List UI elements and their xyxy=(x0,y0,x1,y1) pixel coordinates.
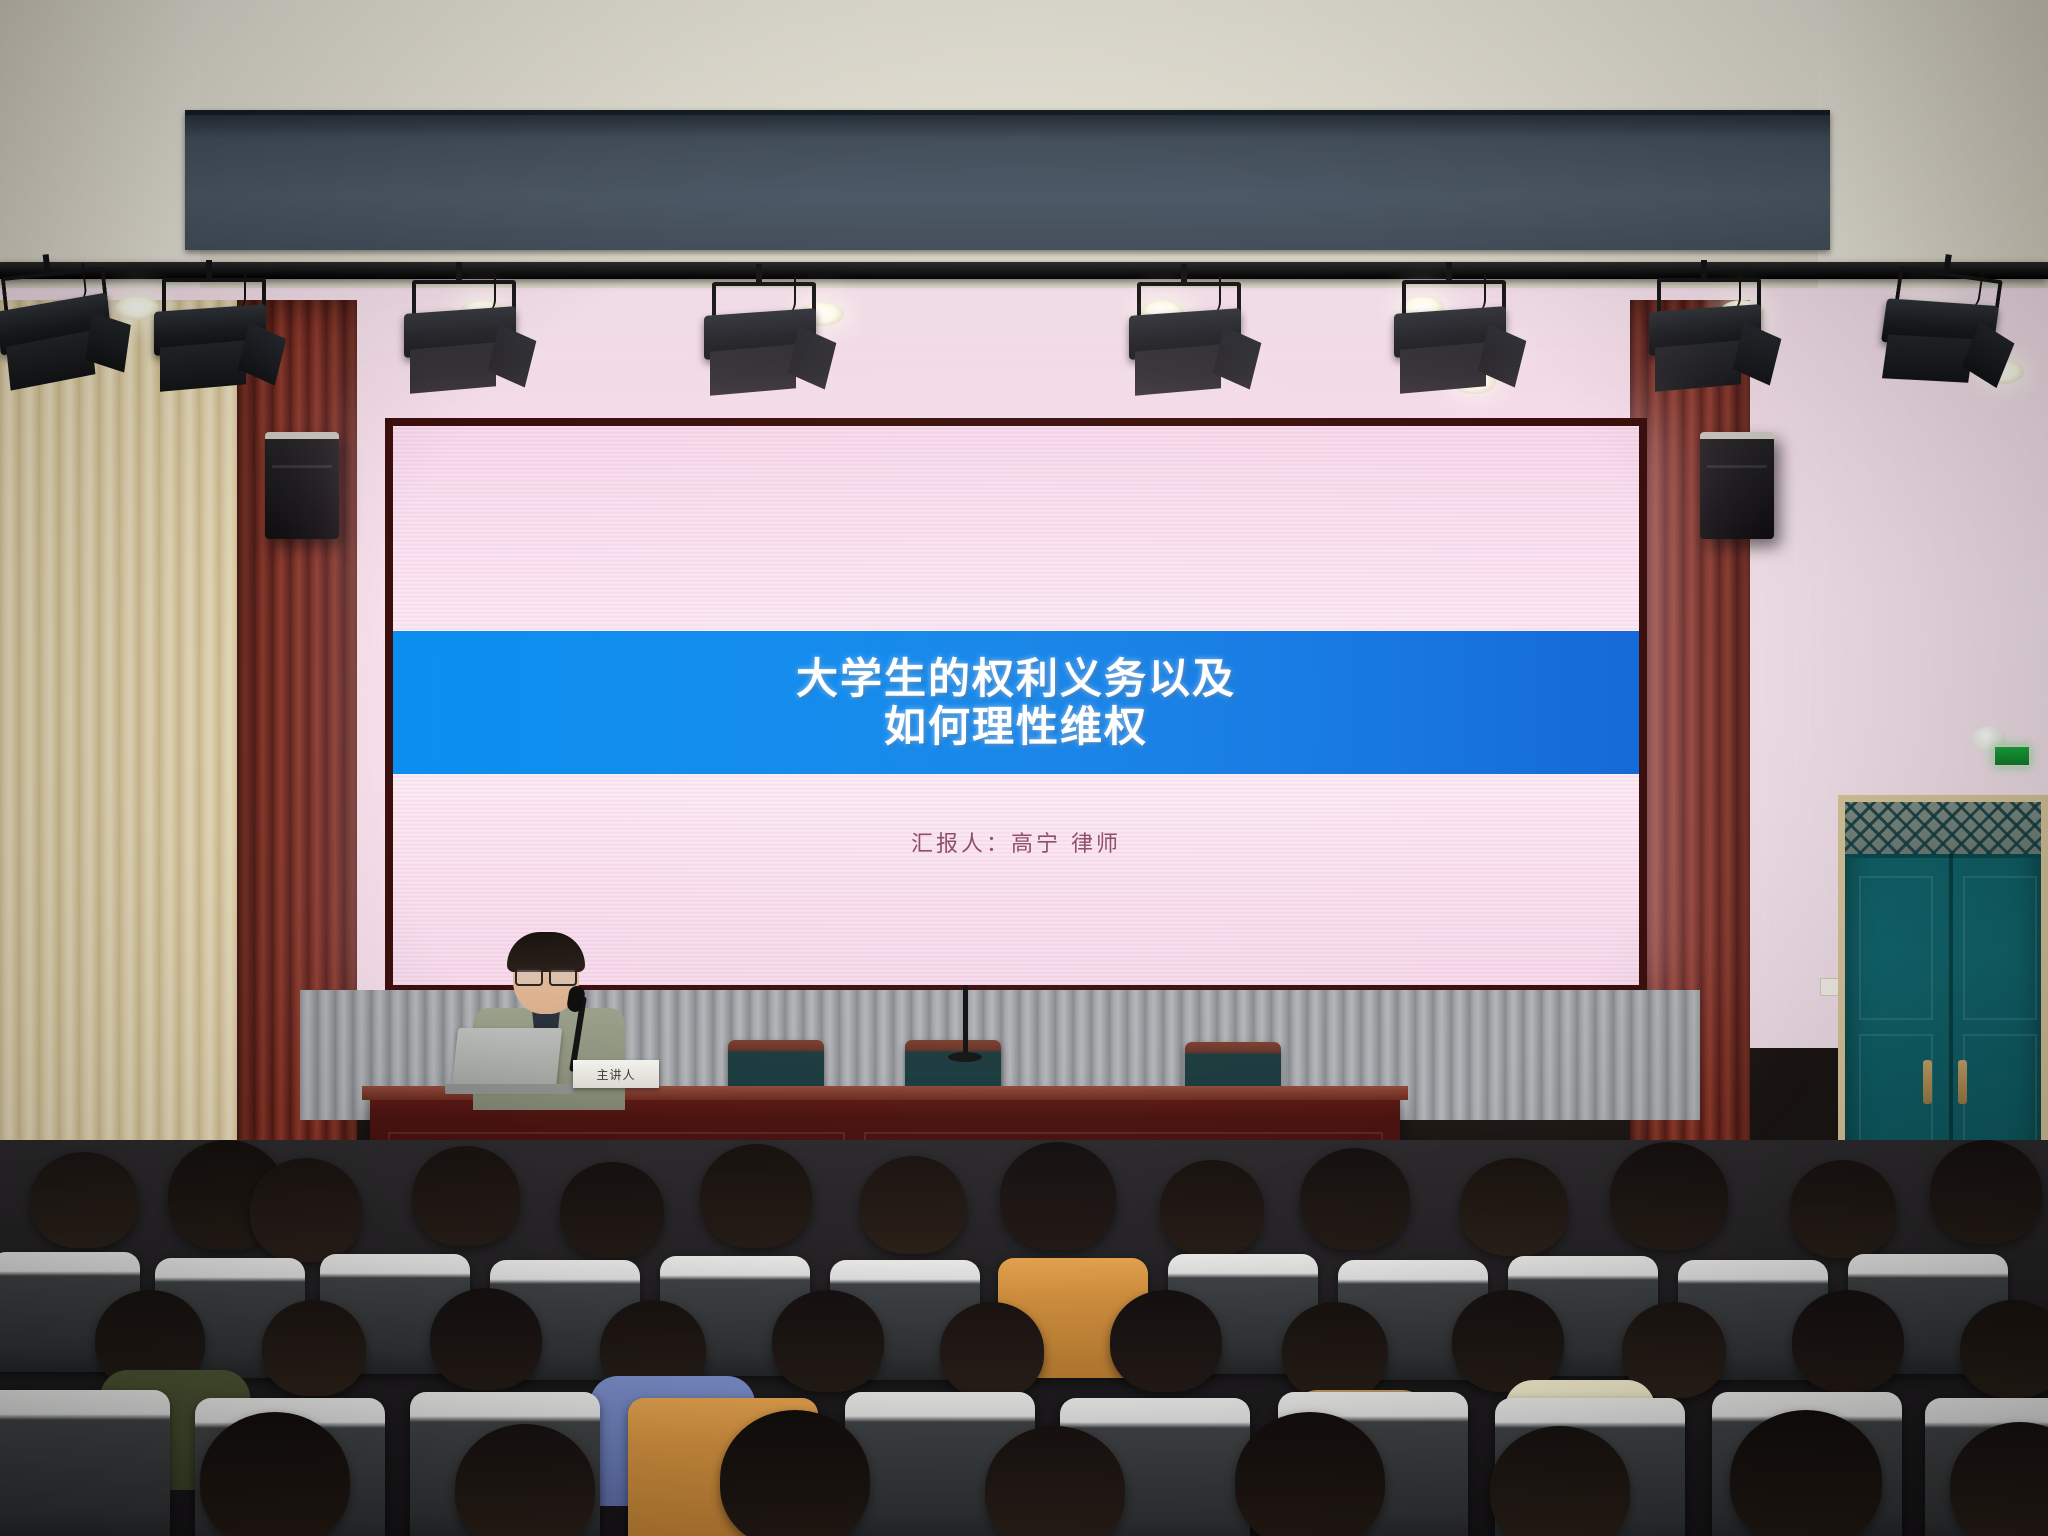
stage-light xyxy=(0,266,119,383)
door-handle[interactable] xyxy=(1958,1060,1967,1104)
audience-head xyxy=(1930,1140,2042,1244)
audience-head xyxy=(262,1300,366,1396)
audience-head xyxy=(1160,1160,1264,1256)
presenter-laptop-base xyxy=(445,1084,573,1094)
slide-title-band: 大学生的权利义务以及 如何理性维权 xyxy=(393,631,1639,774)
slide-presenter-line: 汇报人：高宁 律师 xyxy=(393,826,1639,858)
audience-head xyxy=(720,1410,870,1536)
slide-title-line-1: 大学生的权利义务以及 xyxy=(796,655,1236,702)
audience-head xyxy=(430,1288,542,1390)
wall-speaker-left xyxy=(265,432,339,539)
presenter-hair xyxy=(507,932,585,972)
stage-light xyxy=(150,278,270,383)
audience-head xyxy=(772,1290,884,1392)
stage-light xyxy=(1645,278,1765,383)
wall-speaker-right xyxy=(1700,432,1774,539)
audience-head xyxy=(560,1162,664,1258)
audience-head xyxy=(1730,1410,1882,1536)
ceiling-acoustic-band xyxy=(185,110,1830,250)
audience-head xyxy=(1282,1302,1388,1400)
audience-head xyxy=(1300,1148,1410,1250)
slide-title-line-2: 如何理性维权 xyxy=(796,703,1236,750)
exit-sign xyxy=(1993,745,2031,767)
audience-head xyxy=(1790,1160,1896,1258)
audience-head xyxy=(1452,1290,1564,1392)
audience-head xyxy=(940,1302,1044,1398)
door-transom-lattice xyxy=(1845,802,2041,858)
led-screen: 大学生的权利义务以及 如何理性维权 汇报人：高宁 律师 xyxy=(393,426,1639,985)
audience-head xyxy=(700,1144,812,1248)
table-microphone-stand xyxy=(963,985,968,1057)
presidium-chair xyxy=(905,1040,1001,1092)
audience-head xyxy=(860,1156,966,1254)
door-panel xyxy=(1963,876,2037,1020)
slide-title: 大学生的权利义务以及 如何理性维权 xyxy=(796,655,1236,749)
stage-light xyxy=(1873,264,2006,385)
audience-seat xyxy=(0,1390,170,1536)
presidium-chair xyxy=(728,1040,824,1092)
presenter-figure: 主讲人 xyxy=(455,930,645,1110)
auditorium-photo: 大学生的权利义务以及 如何理性维权 汇报人：高宁 律师 主讲人 xyxy=(0,0,2048,1536)
audience-head xyxy=(1110,1290,1222,1392)
ceiling-right-shade xyxy=(1818,0,2048,300)
audience-head xyxy=(1235,1412,1385,1536)
audience-head xyxy=(1460,1158,1568,1256)
presenter-glasses-icon xyxy=(515,968,577,982)
audience-head xyxy=(1000,1142,1116,1250)
audience-head xyxy=(1792,1290,1904,1392)
audience-area xyxy=(0,1140,2048,1536)
audience-head xyxy=(250,1158,362,1262)
audience-head xyxy=(30,1152,138,1248)
stage-light xyxy=(700,282,820,387)
presenter-name-card: 主讲人 xyxy=(573,1060,659,1088)
door-handle[interactable] xyxy=(1923,1060,1932,1104)
door-panel xyxy=(1859,876,1933,1020)
stage-light xyxy=(400,280,520,385)
audience-head xyxy=(1610,1142,1728,1250)
ceiling-left-shade xyxy=(0,0,200,300)
table-microphone-base xyxy=(948,1052,982,1062)
stage-light xyxy=(1390,280,1510,385)
stage-light xyxy=(1125,282,1245,387)
led-screen-frame: 大学生的权利义务以及 如何理性维权 汇报人：高宁 律师 xyxy=(385,418,1647,993)
presenter-laptop xyxy=(452,1028,562,1088)
audience-head xyxy=(200,1412,350,1536)
audience-head xyxy=(1960,1300,2048,1398)
audience-head xyxy=(412,1146,520,1246)
